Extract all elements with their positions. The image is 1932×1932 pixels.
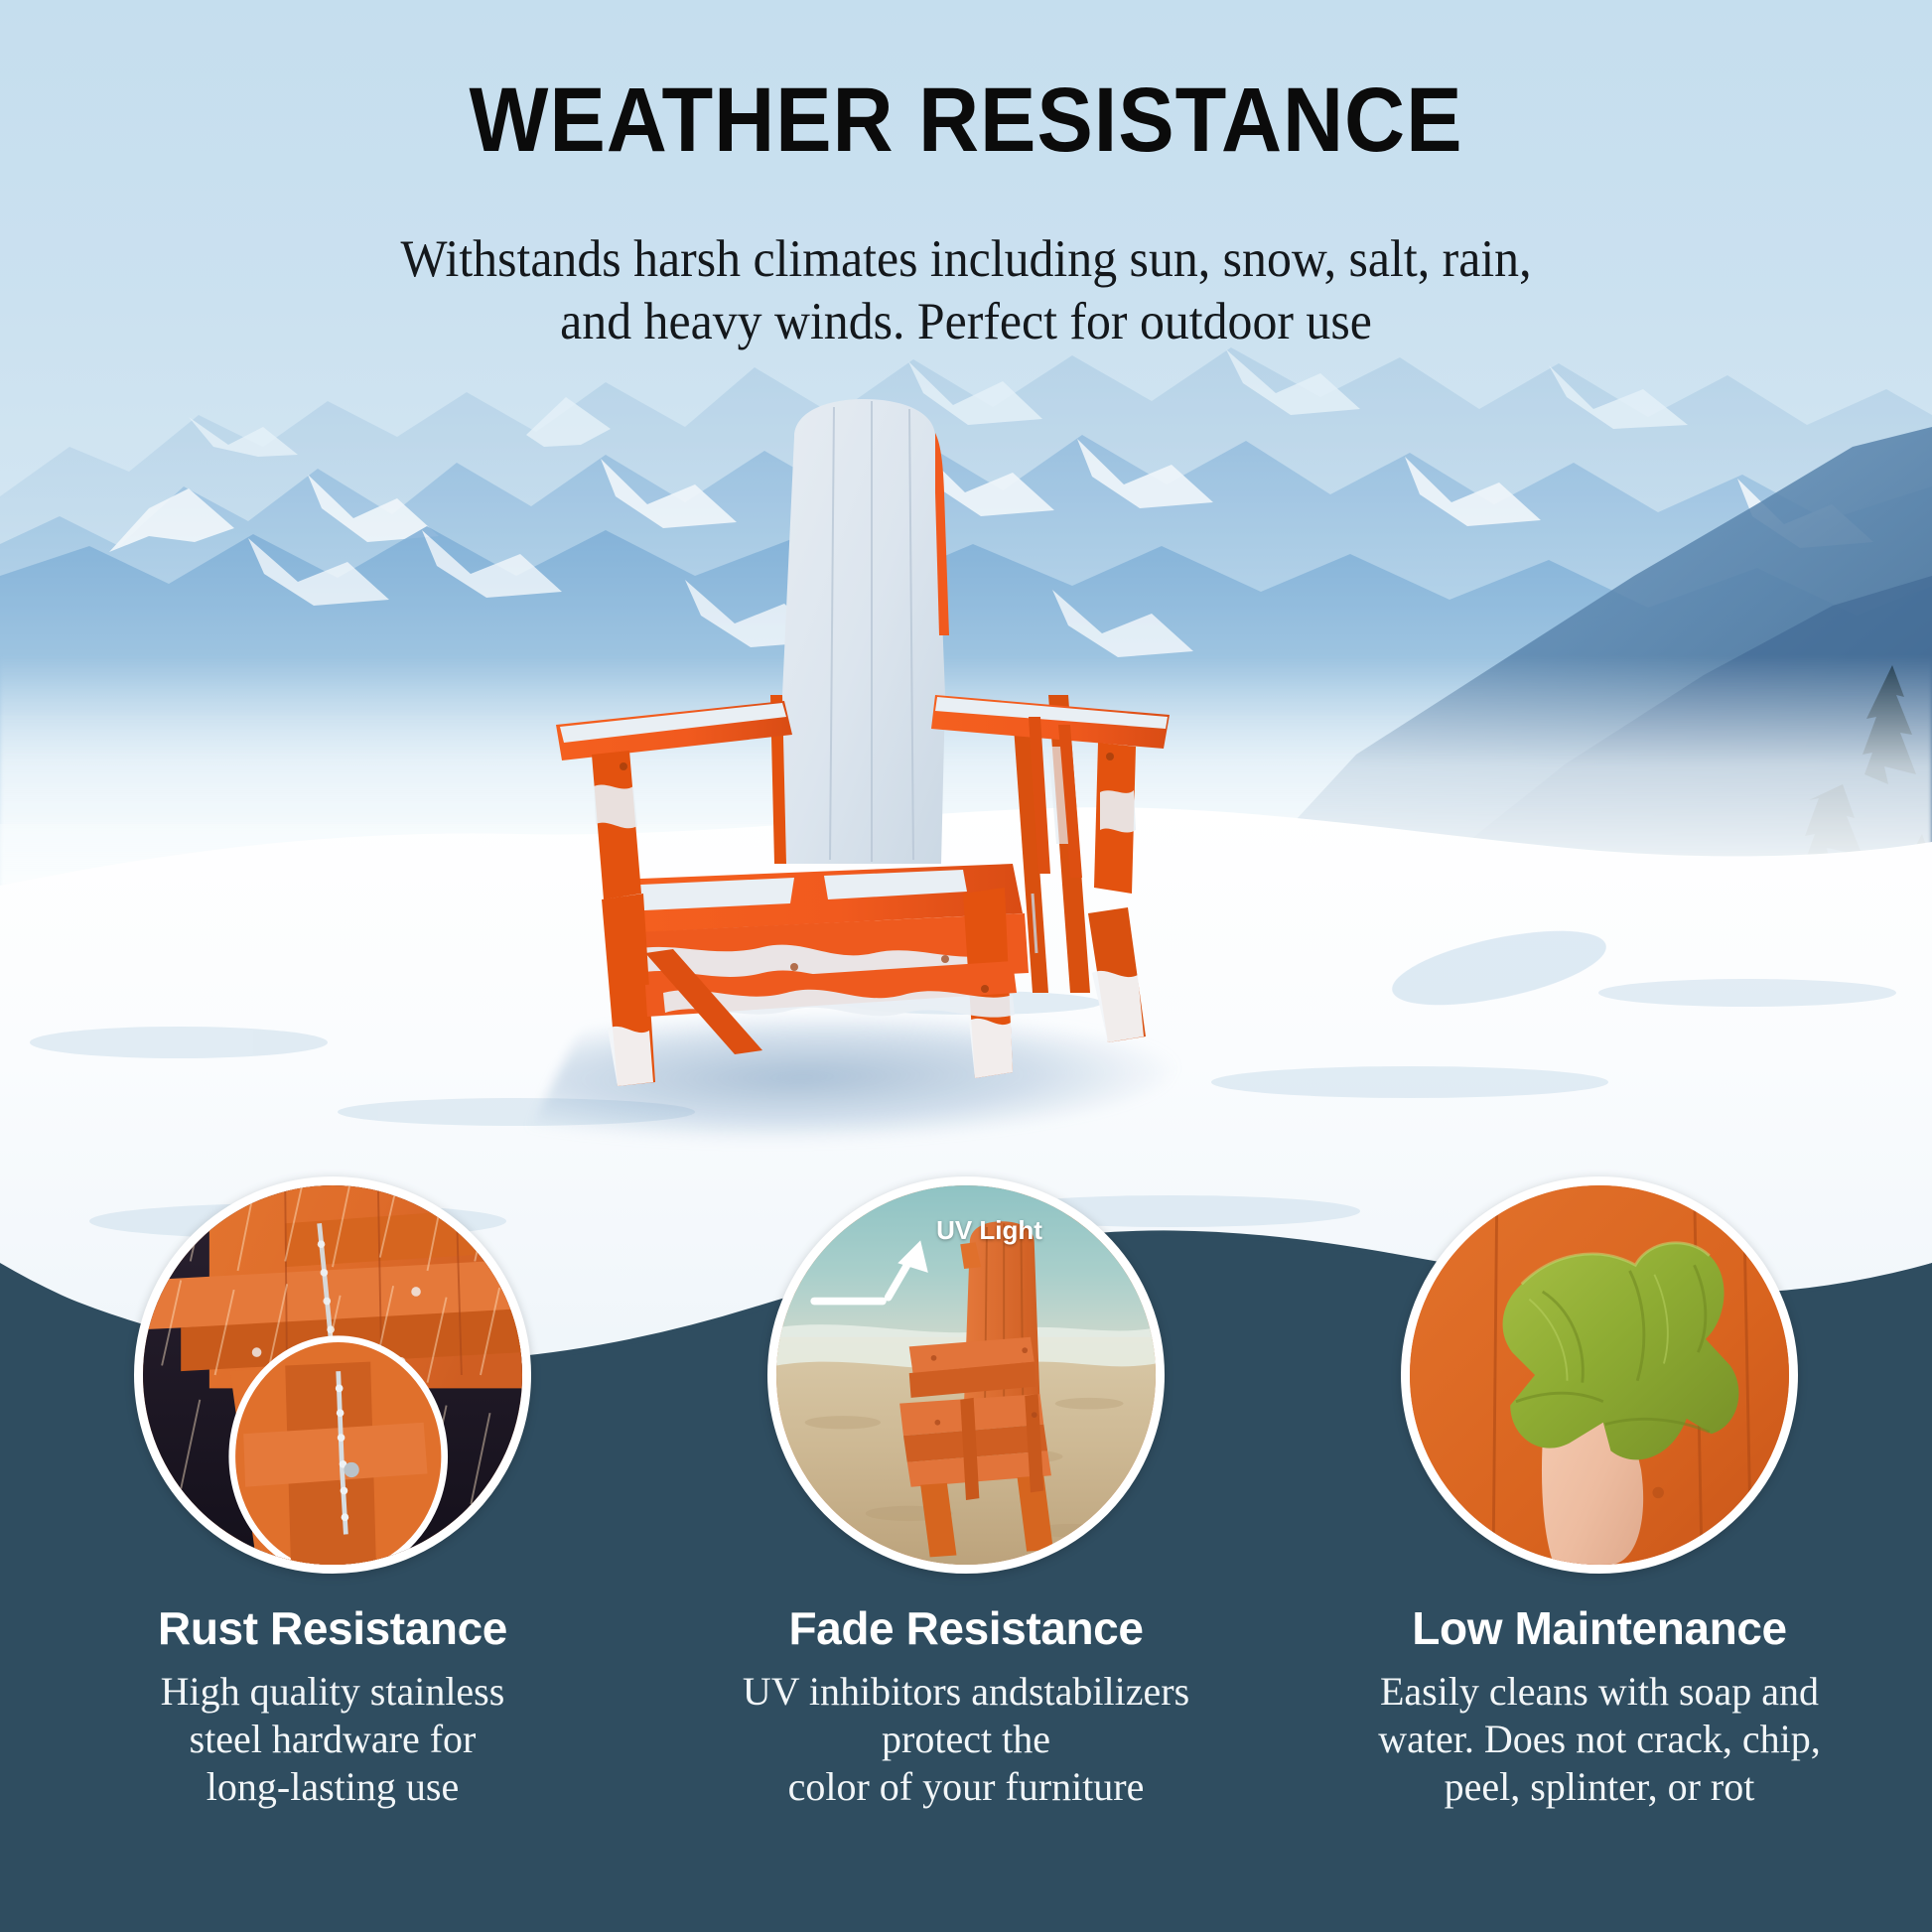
feature-low-maintenance: Low Maintenance Easily cleans with soap … [1321, 1176, 1877, 1811]
feature-title-low-maintenance: Low Maintenance [1321, 1603, 1877, 1654]
desc-line: long-lasting use [55, 1763, 611, 1811]
desc-line: peel, splinter, or rot [1321, 1763, 1877, 1811]
infographic-canvas: WEATHER RESISTANCE Withstands harsh clim… [0, 0, 1932, 1932]
feature-image-rust-resistance[interactable] [134, 1176, 531, 1574]
feature-row: Rust Resistance High quality stainless s… [0, 1176, 1932, 1932]
feature-desc-fade-resistance: UV inhibitors andstabilizers protect the… [688, 1668, 1244, 1811]
subtitle-line-2: and heavy winds. Perfect for outdoor use [58, 291, 1873, 353]
desc-line: Easily cleans with soap and [1321, 1668, 1877, 1716]
feature-desc-rust-resistance: High quality stainless steel hardware fo… [55, 1668, 611, 1811]
page-title: WEATHER RESISTANCE [77, 74, 1855, 166]
feature-image-low-maintenance[interactable] [1401, 1176, 1798, 1574]
desc-line: UV inhibitors andstabilizers [688, 1668, 1244, 1716]
desc-line: protect the [688, 1716, 1244, 1763]
desc-line: High quality stainless [55, 1668, 611, 1716]
feature-fade-resistance: UV Light Fade Resistance UV inhibitors a… [688, 1176, 1244, 1811]
hero-chair-image [496, 397, 1231, 1112]
desc-line: color of your furniture [688, 1763, 1244, 1811]
feature-rust-resistance: Rust Resistance High quality stainless s… [55, 1176, 611, 1811]
feature-image-fade-resistance[interactable]: UV Light [767, 1176, 1165, 1574]
page-subtitle: Withstands harsh climates including sun,… [58, 228, 1873, 352]
uv-light-label: UV Light [936, 1215, 1042, 1246]
subtitle-line-1: Withstands harsh climates including sun,… [58, 228, 1873, 291]
feature-title-rust-resistance: Rust Resistance [55, 1603, 611, 1654]
desc-line: steel hardware for [55, 1716, 611, 1763]
desc-line: water. Does not crack, chip, [1321, 1716, 1877, 1763]
feature-title-fade-resistance: Fade Resistance [688, 1603, 1244, 1654]
feature-desc-low-maintenance: Easily cleans with soap and water. Does … [1321, 1668, 1877, 1811]
